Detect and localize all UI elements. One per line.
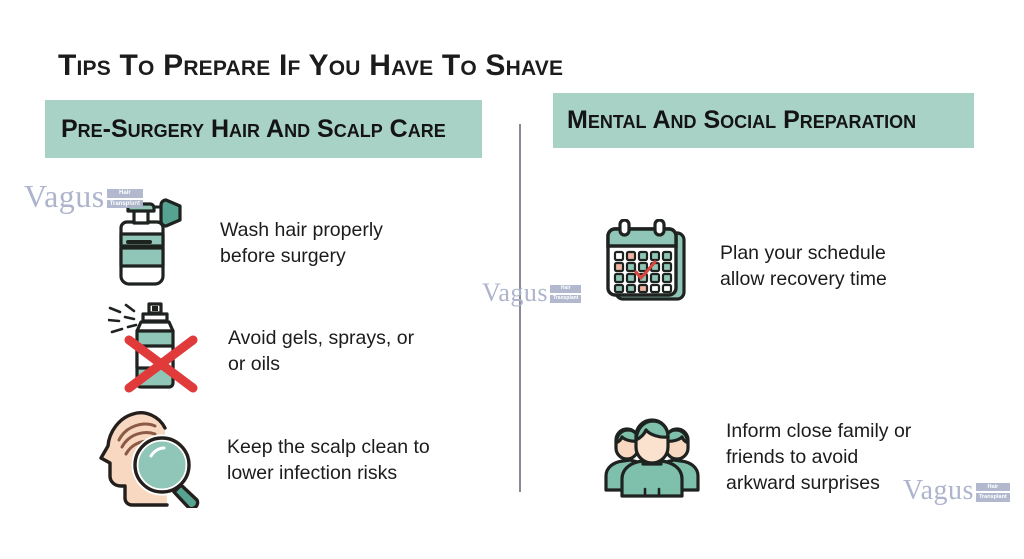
list-item: Keep the scalp clean to lower infection … [95, 406, 430, 513]
watermark-badge-hair: Hair [976, 483, 1010, 491]
list-item-label: Inform close family or friends to avoid … [726, 418, 911, 496]
column-header-left: Pre-Surgery Hair and Scalp Care [45, 100, 482, 158]
watermark-wordmark: Vagus [24, 181, 105, 211]
list-item-label: Keep the scalp clean to lower infection … [227, 434, 430, 486]
watermark-badge-transplant: Transplant [976, 493, 1010, 501]
watermark-badge-transplant: Transplant [550, 295, 581, 303]
watermark-badges: Hair Transplant [976, 483, 1010, 502]
list-item-label: Plan your schedule allow recovery time [720, 240, 887, 292]
list-item-label: Avoid gels, sprays, or or oils [228, 325, 414, 377]
column-header-right-label: Mental and Social Preparation [567, 106, 916, 135]
list-item: Avoid gels, sprays, or or oils [108, 302, 414, 399]
column-header-right: Mental and Social Preparation [553, 93, 974, 148]
shampoo-bottle-icon [108, 192, 194, 293]
people-group-icon [600, 410, 704, 503]
list-item-label: Wash hair properly before surgery [220, 217, 383, 269]
watermark-badge-hair: Hair [550, 285, 581, 293]
head-magnifier-icon [95, 406, 211, 513]
vertical-divider [519, 124, 521, 492]
list-item: Inform close family or friends to avoid … [600, 410, 911, 503]
watermark-wordmark: Vagus [482, 281, 548, 306]
column-header-left-label: Pre-Surgery Hair and Scalp Care [61, 115, 446, 144]
watermark-logo: Vagus Hair Transplant [903, 478, 1010, 505]
watermark-badges: Hair Transplant [550, 285, 581, 303]
watermark-wordmark: Vagus [903, 478, 974, 505]
list-item: Plan your schedule allow recovery time [602, 219, 887, 312]
calendar-check-icon [602, 219, 694, 312]
page-title: Tips to Prepare If you Have to Shave [58, 49, 563, 83]
spray-can-forbidden-icon [108, 302, 204, 399]
list-item: Wash hair properly before surgery [108, 192, 383, 293]
watermark-logo: Vagus Hair Transplant [482, 281, 581, 306]
